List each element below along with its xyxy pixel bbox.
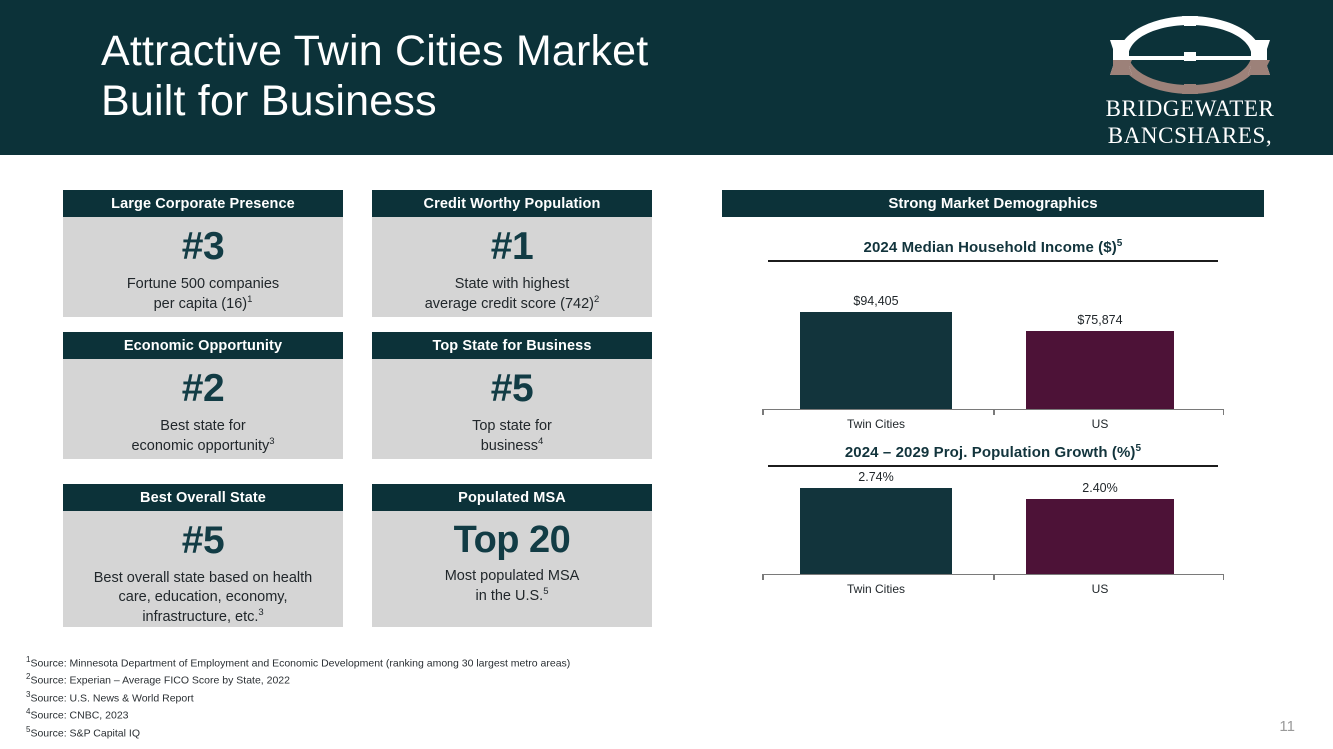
- footnote-item: 2Source: Experian – Average FICO Score b…: [26, 671, 926, 688]
- stat-card-heading: Large Corporate Presence: [63, 190, 343, 217]
- stat-card-value: #3: [63, 223, 343, 271]
- x-axis-label-twin-cities: Twin Cities: [800, 582, 952, 596]
- logo-text-line-1: BRIDGEWATER: [1092, 96, 1288, 122]
- stat-card-best-overall-state: Best Overall State #5 Best overall state…: [63, 484, 343, 627]
- stat-card-description: Best overall state based on health care,…: [63, 565, 343, 627]
- footnote-text: Source: U.S. News & World Report: [30, 692, 193, 704]
- stat-card-economic-opportunity: Economic Opportunity #2 Best state for e…: [63, 332, 343, 459]
- stat-card-desc-line-3: infrastructure, etc.: [142, 609, 258, 625]
- stat-card-desc-line-1: Top state for: [472, 418, 552, 434]
- stat-card-footnote-ref: 4: [538, 436, 543, 447]
- stat-card-value: #5: [372, 365, 652, 413]
- footnote-text: Source: Experian – Average FICO Score by…: [30, 675, 290, 687]
- stat-card-heading: Top State for Business: [372, 332, 652, 359]
- footnotes: 1Source: Minnesota Department of Employm…: [26, 654, 926, 741]
- stat-card-body: #3 Fortune 500 companies per capita (16)…: [63, 217, 343, 314]
- x-axis-tick: [1223, 574, 1225, 580]
- chart-title: 2024 Median Household Income ($)5: [722, 238, 1264, 260]
- stat-card-value: #1: [372, 223, 652, 271]
- stat-card-footnote-ref: 5: [543, 586, 548, 597]
- bar-twin-cities: [800, 312, 952, 409]
- stat-card-value: #5: [63, 517, 343, 565]
- stat-card-heading: Economic Opportunity: [63, 332, 343, 359]
- stat-card-desc-line-2: economic opportunity: [131, 438, 269, 454]
- stat-card-credit-worthy-population: Credit Worthy Population #1 State with h…: [372, 190, 652, 317]
- bar-us: [1026, 499, 1174, 574]
- stat-card-description: Most populated MSA in the U.S.5: [372, 563, 652, 606]
- x-axis-label-us: US: [1026, 417, 1174, 431]
- footnote-item: 3Source: U.S. News & World Report: [26, 689, 926, 706]
- chart-plot-area: 2.74% 2.40% Twin Cities US: [762, 467, 1224, 575]
- stat-card-desc-line-2: in the U.S.: [476, 588, 544, 604]
- stat-card-body: #2 Best state for economic opportunity3: [63, 359, 343, 456]
- stat-card-desc-line-1: State with highest: [455, 276, 569, 292]
- footnote-item: 1Source: Minnesota Department of Employm…: [26, 654, 926, 671]
- stat-card-desc-line-2: average credit score (742): [425, 296, 594, 312]
- stat-card-large-corporate-presence: Large Corporate Presence #3 Fortune 500 …: [63, 190, 343, 317]
- bar-value-label-us: 2.40%: [1026, 481, 1174, 495]
- chart-median-household-income: 2024 Median Household Income ($)5 $94,40…: [722, 238, 1264, 410]
- stat-card-body: Top 20 Most populated MSA in the U.S.5: [372, 511, 652, 606]
- footnote-text: Source: Minnesota Department of Employme…: [30, 657, 570, 669]
- chart-population-growth: 2024 – 2029 Proj. Population Growth (%)5…: [722, 443, 1264, 575]
- page-title: Attractive Twin Cities Market Built for …: [101, 26, 861, 127]
- stat-card-desc-line-2: business: [481, 438, 538, 454]
- stat-card-body: #5 Best overall state based on health ca…: [63, 511, 343, 627]
- stat-card-desc-line-1: Best overall state based on health: [94, 570, 312, 586]
- x-axis-label-us: US: [1026, 582, 1174, 596]
- x-axis-tick: [993, 409, 995, 415]
- stat-card-description: Best state for economic opportunity3: [63, 413, 343, 456]
- stat-card-footnote-ref: 3: [258, 607, 263, 618]
- footnote-text: Source: S&P Capital IQ: [30, 727, 140, 739]
- bar-value-label-us: $75,874: [1026, 313, 1174, 327]
- stat-card-footnote-ref: 3: [269, 436, 274, 447]
- stat-card-value: #2: [63, 365, 343, 413]
- bar-value-label-twin-cities: $94,405: [800, 294, 952, 308]
- bar-twin-cities: [800, 488, 952, 574]
- x-axis-label-twin-cities: Twin Cities: [800, 417, 952, 431]
- chart-title: 2024 – 2029 Proj. Population Growth (%)5: [722, 443, 1264, 465]
- stat-card-top-state-for-business: Top State for Business #5 Top state for …: [372, 332, 652, 459]
- company-logo: BRIDGEWATER BANCSHARES, INC.: [1092, 16, 1288, 141]
- logo-wordmark: BRIDGEWATER BANCSHARES, INC.: [1092, 96, 1288, 177]
- stat-card-description: State with highest average credit score …: [372, 271, 652, 314]
- footnote-text: Source: CNBC, 2023: [30, 710, 128, 722]
- chart-title-text: 2024 Median Household Income ($): [864, 239, 1117, 256]
- bar-value-label-twin-cities: 2.74%: [800, 470, 952, 484]
- x-axis-tick: [993, 574, 995, 580]
- stat-card-description: Fortune 500 companies per capita (16)1: [63, 271, 343, 314]
- stat-card-desc-line-1: Most populated MSA: [445, 568, 580, 584]
- footnote-item: 5Source: S&P Capital IQ: [26, 724, 926, 741]
- bar-us: [1026, 331, 1174, 409]
- x-axis-tick: [1223, 409, 1225, 415]
- chart-title-footnote-ref: 5: [1135, 443, 1141, 454]
- stat-card-footnote-ref: 2: [594, 294, 599, 305]
- stat-card-heading: Populated MSA: [372, 484, 652, 511]
- x-axis-tick: [762, 574, 764, 580]
- stat-card-body: #5 Top state for business4: [372, 359, 652, 456]
- stat-card-body: #1 State with highest average credit sco…: [372, 217, 652, 314]
- stat-card-heading: Credit Worthy Population: [372, 190, 652, 217]
- footnote-item: 4Source: CNBC, 2023: [26, 706, 926, 723]
- market-demographics-panel: Strong Market Demographics 2024 Median H…: [722, 190, 1264, 575]
- stat-card-populated-msa: Populated MSA Top 20 Most populated MSA …: [372, 484, 652, 627]
- page-number: 11: [1279, 718, 1295, 735]
- stat-card-desc-line-1: Fortune 500 companies: [127, 276, 279, 292]
- chart-title-text: 2024 – 2029 Proj. Population Growth (%): [845, 444, 1136, 461]
- chart-title-footnote-ref: 5: [1117, 238, 1123, 249]
- stat-card-desc-line-2: per capita (16): [154, 296, 248, 312]
- panel-heading: Strong Market Demographics: [722, 190, 1264, 217]
- stat-card-value: Top 20: [372, 517, 652, 563]
- bridge-logo-mark-icon: [1104, 16, 1276, 94]
- stat-card-footnote-ref: 1: [247, 294, 252, 305]
- x-axis-tick: [762, 409, 764, 415]
- page-title-line-2: Built for Business: [101, 76, 861, 126]
- chart-plot-area: $94,405 $75,874 Twin Cities US: [762, 262, 1224, 410]
- stat-card-heading: Best Overall State: [63, 484, 343, 511]
- stat-card-description: Top state for business4: [372, 413, 652, 456]
- page-title-line-1: Attractive Twin Cities Market: [101, 26, 861, 76]
- stat-card-desc-line-1: Best state for: [160, 418, 245, 434]
- stat-card-desc-line-2: care, education, economy,: [119, 589, 288, 605]
- logo-text-line-2: BANCSHARES, INC.: [1092, 122, 1288, 177]
